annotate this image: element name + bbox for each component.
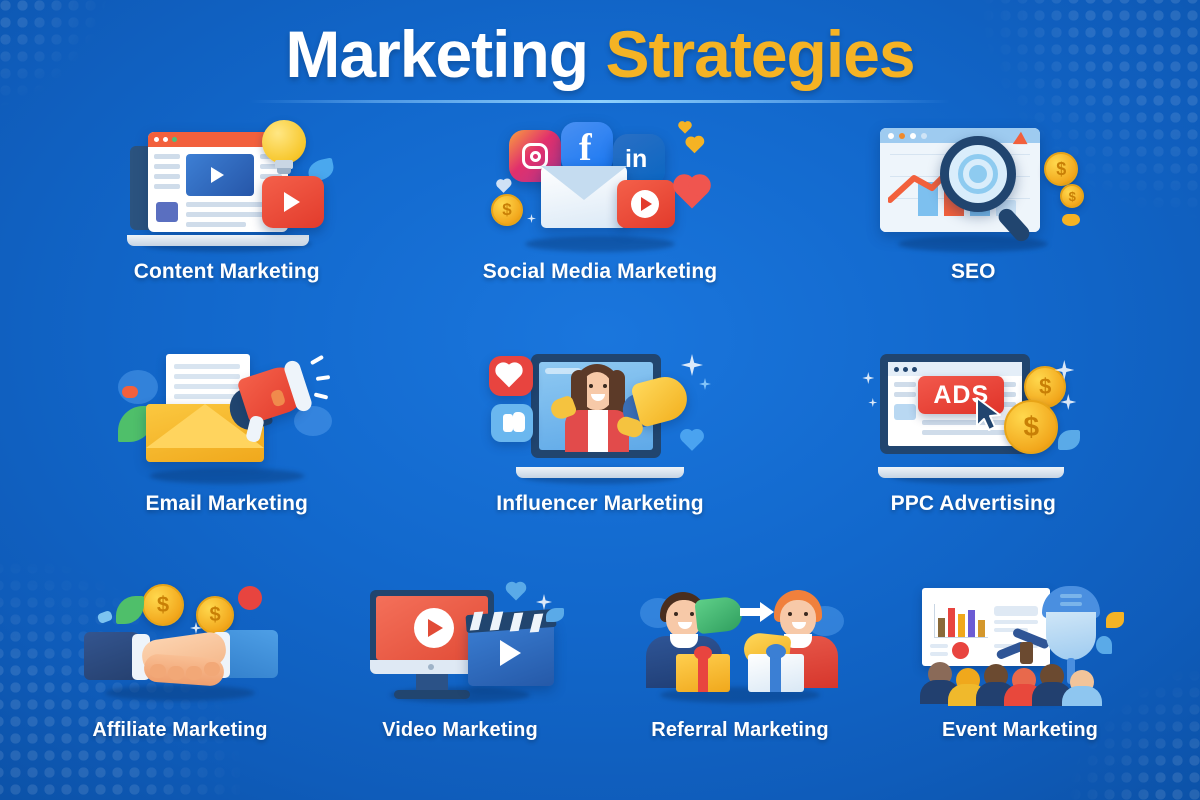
title-block: Marketing Strategies — [0, 18, 1200, 103]
strategy-label: Email Marketing — [145, 492, 308, 516]
strategy-label: Influencer Marketing — [496, 492, 703, 516]
strategy-card-affiliate-marketing[interactable]: $ $ — [40, 582, 320, 742]
browser-chart-magnifier-coins-icon: $ $ — [858, 118, 1088, 248]
strategy-card-event-marketing[interactable]: Event Marketing — [880, 582, 1160, 742]
social-app-icons-envelope-icon: f in — [485, 118, 715, 248]
laptop-woman-megaphone-reactions-icon — [485, 350, 715, 480]
strategy-card-influencer-marketing[interactable]: Influencer Marketing — [413, 350, 786, 516]
monitor-play-clapperboard-icon — [360, 582, 560, 707]
strategy-label: Content Marketing — [134, 260, 320, 284]
strategy-label: SEO — [951, 260, 996, 284]
strategy-grid: Content Marketing f in — [40, 118, 1160, 742]
title-word-primary: Marketing — [285, 17, 588, 91]
strategy-row-2: Email Marketing — [40, 350, 1160, 516]
presentation-microphone-audience-icon — [920, 582, 1120, 707]
infographic-poster: Marketing Strategies — [0, 0, 1200, 800]
strategy-label: Referral Marketing — [651, 719, 828, 742]
strategy-row-1: Content Marketing f in — [40, 118, 1160, 284]
envelope-letter-megaphone-icon — [112, 350, 342, 480]
strategy-card-social-media-marketing[interactable]: f in — [413, 118, 786, 284]
laptop-browser-video-lightbulb-icon — [112, 118, 342, 248]
title-divider — [250, 100, 950, 103]
strategy-row-3: $ $ — [40, 582, 1160, 742]
strategy-card-email-marketing[interactable]: Email Marketing — [40, 350, 413, 516]
strategy-card-ppc-advertising[interactable]: ADS $ $ PPC Advertising — [787, 350, 1160, 516]
handshake-coins-icon: $ $ — [80, 582, 280, 707]
strategy-label: Event Marketing — [942, 719, 1098, 742]
two-people-gift-exchange-icon — [640, 582, 840, 707]
strategy-label: PPC Advertising — [891, 492, 1056, 516]
strategy-card-referral-marketing[interactable]: Referral Marketing — [600, 582, 880, 742]
strategy-card-video-marketing[interactable]: Video Marketing — [320, 582, 600, 742]
title-word-accent: Strategies — [605, 17, 914, 91]
strategy-card-seo[interactable]: $ $ SEO — [787, 118, 1160, 284]
page-title: Marketing Strategies — [0, 18, 1200, 92]
strategy-card-content-marketing[interactable]: Content Marketing — [40, 118, 413, 284]
strategy-label: Video Marketing — [382, 719, 538, 742]
strategy-label: Social Media Marketing — [483, 260, 717, 284]
laptop-ads-banner-cursor-coins-icon: ADS $ $ — [858, 350, 1088, 480]
strategy-label: Affiliate Marketing — [92, 719, 267, 742]
